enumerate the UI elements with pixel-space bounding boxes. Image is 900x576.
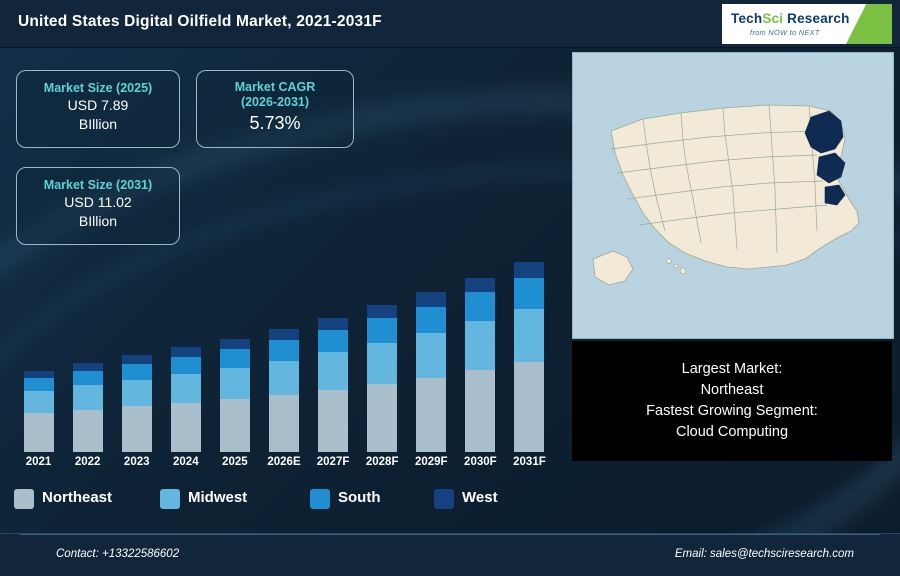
bar-segment-west [220,339,250,349]
bar-group [318,318,348,452]
bar-segment-midwest [122,380,152,407]
bar-group [171,347,201,452]
bar-segment-south [367,318,397,342]
bar-segment-northeast [269,395,299,452]
kpi-market-size-2031-label: Market Size (2031) [17,178,179,193]
bar-group [269,329,299,452]
legend-label-northeast: Northeast [42,489,112,506]
bar-segment-west [416,292,446,307]
kpi-market-size-2025-value-line2: BIllion [17,115,179,134]
bar-group [24,371,54,452]
kpi-cagr-sublabel: (2026-2031) [197,95,353,110]
bar-segment-northeast [514,362,544,452]
bar-segment-south [416,307,446,333]
bar-segment-south [514,278,544,309]
x-tick-2028F: 2028F [356,456,408,468]
chart-panel: Market Size (2025) USD 7.89 BIllion Mark… [0,47,568,534]
bar-segment-northeast [367,384,397,452]
us-map-svg [573,53,893,338]
legend-label-midwest: Midwest [188,489,247,506]
stacked-bar-plot-area [14,262,554,452]
bar-segment-west [73,363,103,371]
techsci-research-logo: TechSci Research from NOW to NEXT [722,4,892,44]
callout-box: Largest Market: Northeast Fastest Growin… [572,341,892,461]
legend-swatch-west [434,489,454,509]
logo-sci: Sci [762,11,783,26]
x-tick-2025: 2025 [209,456,261,468]
bar-segment-west [367,305,397,319]
footer-email: Email: sales@techsciresearch.com [675,548,854,560]
bar-group [514,262,544,452]
x-tick-2031F: 2031F [503,456,555,468]
bar-segment-west [465,278,495,292]
page-title: United States Digital Oilfield Market, 2… [18,13,382,31]
bar-segment-northeast [122,406,152,452]
bar-group [367,305,397,452]
map-alaska [593,251,633,285]
bar-segment-midwest [465,321,495,370]
logo-tech: Tech [731,11,762,26]
legend-swatch-midwest [160,489,180,509]
bar-segment-midwest [171,374,201,403]
bar-segment-midwest [220,368,250,400]
infographic-page: United States Digital Oilfield Market, 2… [0,0,900,576]
x-tick-2021: 2021 [13,456,65,468]
callout-fastest-segment-label: Fastest Growing Segment: [572,401,892,422]
bar-segment-south [122,364,152,380]
callout-largest-market-label: Largest Market: [572,359,892,380]
bar-segment-northeast [171,403,201,452]
bar-segment-south [269,340,299,360]
bar-segment-south [318,330,348,352]
kpi-market-size-2031: Market Size (2031) USD 11.02 BIllion [16,167,180,245]
legend-label-south: South [338,489,381,506]
legend-swatch-south [310,489,330,509]
header-bar: United States Digital Oilfield Market, 2… [0,0,900,48]
legend-swatch-northeast [14,489,34,509]
bar-segment-south [24,378,54,391]
x-tick-2024: 2024 [160,456,212,468]
bar-segment-northeast [73,410,103,452]
bar-group [122,355,152,452]
logo-green-arrow [846,4,892,44]
bar-segment-northeast [318,390,348,452]
bar-segment-midwest [73,385,103,409]
bar-segment-midwest [24,391,54,413]
logo-tagline: from NOW to NEXT [750,28,820,37]
kpi-cagr-label: Market CAGR [197,80,353,95]
x-tick-2029F: 2029F [405,456,457,468]
bar-group [73,363,103,452]
kpi-market-size-2025-label: Market Size (2025) [17,81,179,96]
kpi-cagr-value: 5.73% [197,110,353,136]
bar-segment-midwest [269,361,299,395]
callout-largest-market-value: Northeast [572,380,892,401]
x-tick-2030F: 2030F [454,456,506,468]
bar-segment-northeast [24,413,54,452]
x-tick-2023: 2023 [111,456,163,468]
bar-segment-midwest [514,309,544,362]
chart-legend: NortheastMidwestSouthWest [14,487,554,527]
kpi-market-cagr: Market CAGR (2026-2031) 5.73% [196,70,354,148]
kpi-market-size-2025-value-line1: USD 7.89 [17,96,179,115]
bar-segment-west [171,347,201,356]
us-map-panel [572,52,894,339]
bar-segment-west [122,355,152,364]
x-tick-2026E: 2026E [258,456,310,468]
footer-bar: Contact: +13322586602 Email: sales@techs… [0,533,900,576]
bar-group [416,292,446,452]
callout-fastest-segment-value: Cloud Computing [572,422,892,443]
bar-segment-west [514,262,544,278]
logo-wordmark: TechSci Research [731,11,850,26]
x-tick-2027F: 2027F [307,456,359,468]
bar-segment-midwest [367,343,397,384]
bar-segment-midwest [416,333,446,378]
bar-segment-northeast [416,378,446,452]
bar-group [220,339,250,452]
x-tick-2022: 2022 [62,456,114,468]
footer-contact: Contact: +13322586602 [56,548,179,560]
map-hawaii [667,259,686,274]
bar-segment-northeast [465,370,495,452]
logo-research: Research [783,11,849,26]
bar-segment-west [269,329,299,340]
bar-segment-south [465,292,495,321]
x-axis-tick-labels: 202120222023202420252026E2027F2028F2029F… [14,456,554,476]
bar-segment-south [171,357,201,374]
bar-segment-west [318,318,348,330]
footer-divider [20,534,880,535]
bar-segment-south [220,349,250,367]
kpi-market-size-2025: Market Size (2025) USD 7.89 BIllion [16,70,180,148]
kpi-market-size-2031-value-line1: USD 11.02 [17,193,179,212]
legend-label-west: West [462,489,498,506]
bar-segment-west [24,371,54,378]
bar-segment-midwest [318,352,348,390]
bar-group [465,278,495,452]
kpi-market-size-2031-value-line2: BIllion [17,212,179,231]
bar-segment-northeast [220,399,250,452]
bar-segment-south [73,371,103,385]
